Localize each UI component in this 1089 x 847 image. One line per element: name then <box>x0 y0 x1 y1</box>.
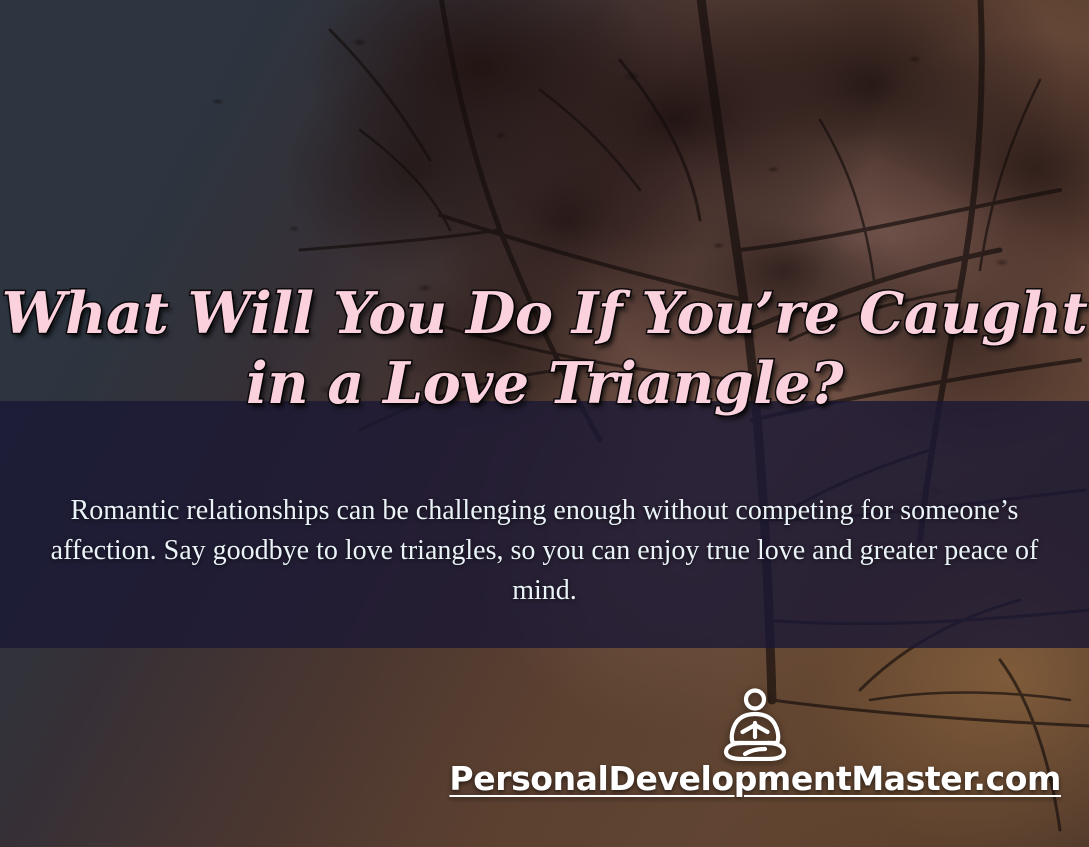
poster-canvas: What Will You Do If You’re Caught in a L… <box>0 0 1089 847</box>
brand-url-link[interactable]: PersonalDevelopmentMaster.com <box>449 759 1061 799</box>
page-title: What Will You Do If You’re Caught in a L… <box>0 279 1089 419</box>
body-paragraph: Romantic relationships can be challengin… <box>50 491 1039 611</box>
brand-block[interactable]: PersonalDevelopmentMaster.com <box>449 687 1061 799</box>
meditating-person-lotus-icon <box>720 687 790 761</box>
